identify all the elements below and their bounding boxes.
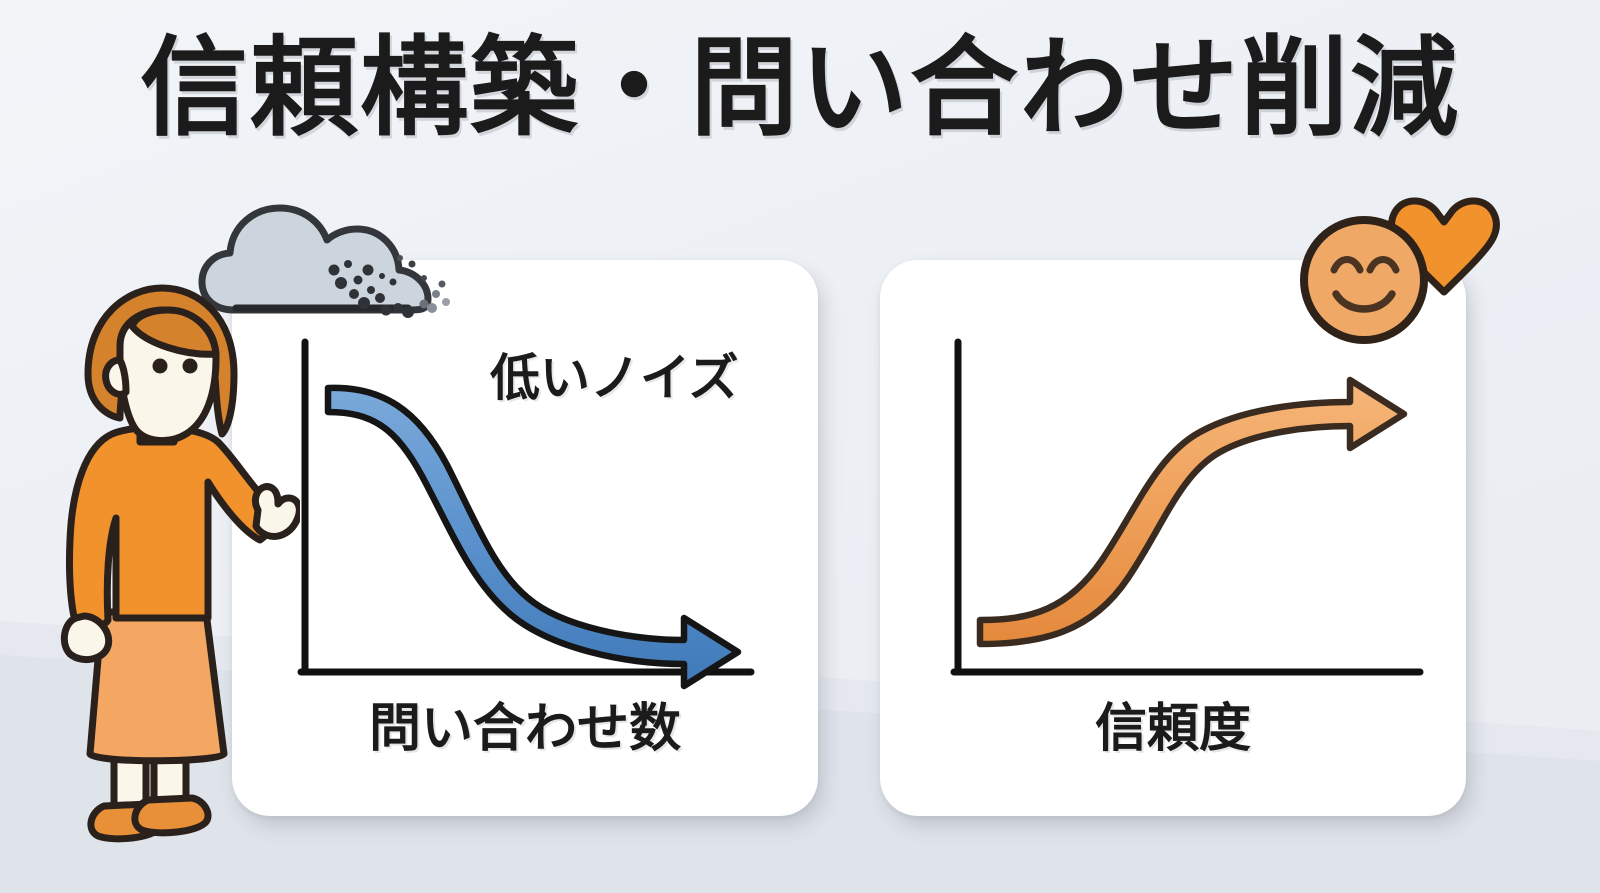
caption-trust: 信頼度 — [880, 686, 1466, 761]
page-title: 信頼構築・問い合わせ削減 — [0, 28, 1600, 149]
smiley-face-icon — [1304, 220, 1424, 340]
label-low-noise: 低いノイズ — [490, 338, 739, 410]
slide-canvas: 信頼構築・問い合わせ削減 低いノイズ 問い合わせ数 — [0, 0, 1600, 893]
presenter-character — [28, 282, 300, 850]
caption-inquiries: 問い合わせ数 — [232, 686, 818, 761]
smiley-heart-group — [1262, 188, 1518, 366]
trend-arrow-up — [980, 380, 1404, 644]
trend-arrow-down — [328, 388, 738, 686]
